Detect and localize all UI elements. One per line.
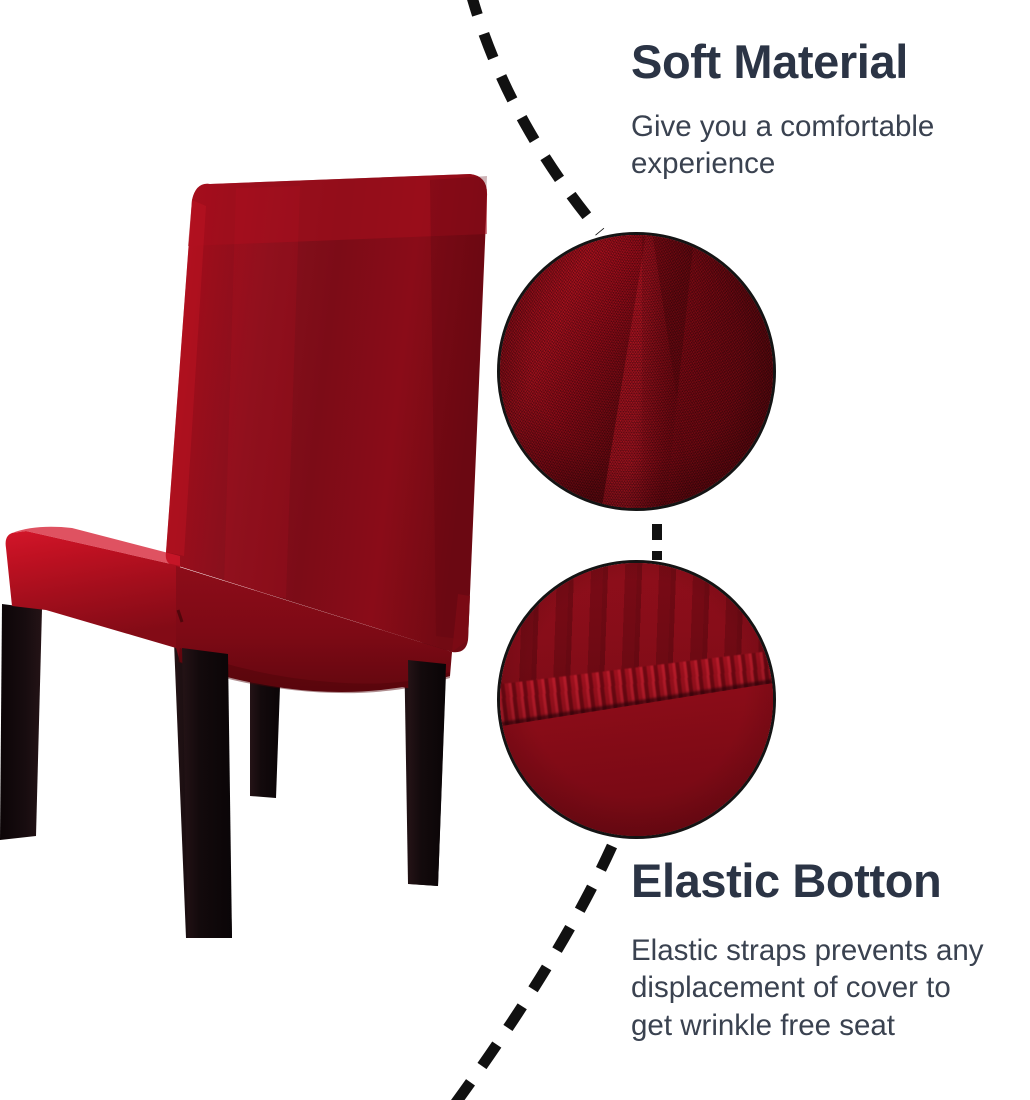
feature-body-line: Give you a comfortable — [631, 108, 934, 145]
feature-body-line: Elastic straps prevents any — [631, 932, 984, 969]
feature-body-line: experience — [631, 145, 934, 182]
feature-block-soft-material: Soft Material Give you a comfortable exp… — [631, 38, 934, 183]
feature-block-elastic-botton: Elastic Botton Elastic straps prevents a… — [631, 857, 984, 1044]
feature-body-elastic-botton: Elastic straps prevents any displacement… — [631, 932, 984, 1044]
feature-body-line: displacement of cover to — [631, 969, 984, 1006]
feature-text-layer: Soft Material Give you a comfortable exp… — [0, 0, 1030, 1100]
infographic-canvas: Soft Material Give you a comfortable exp… — [0, 0, 1030, 1100]
feature-heading-soft-material: Soft Material — [631, 38, 934, 86]
feature-heading-elastic-botton: Elastic Botton — [631, 857, 984, 905]
feature-body-line: get wrinkle free seat — [631, 1007, 984, 1044]
feature-body-soft-material: Give you a comfortable experience — [631, 108, 934, 183]
